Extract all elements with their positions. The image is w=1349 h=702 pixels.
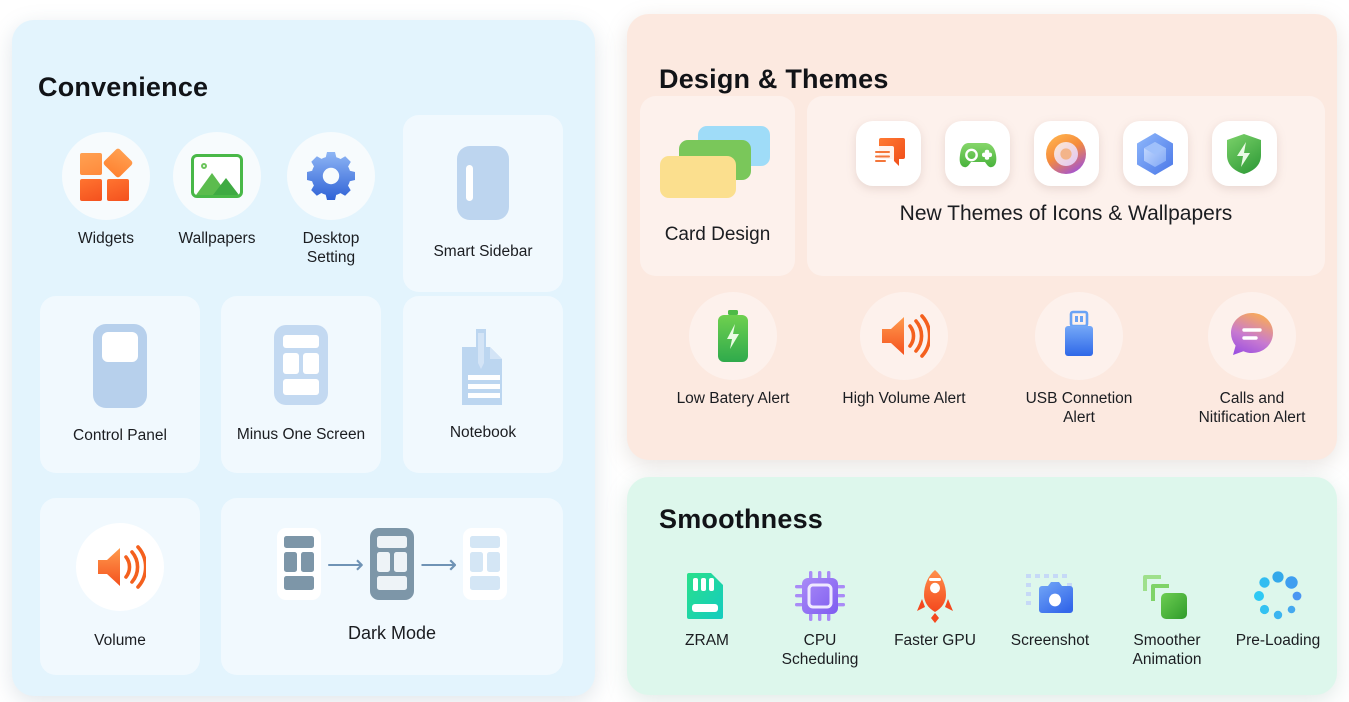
tile-smart-sidebar[interactable]: Smart Sidebar — [403, 115, 563, 292]
volume-alert-icon-wrap — [860, 292, 948, 380]
tile-dark-mode-label: Dark Mode — [348, 622, 436, 645]
loading-spinner-icon — [1252, 570, 1304, 622]
feature-pre-loading-label: Pre-Loading — [1236, 631, 1320, 650]
panel-convenience: Convenience Widgets Wallpapers — [12, 20, 595, 696]
feature-faster-gpu[interactable]: Faster GPU — [880, 570, 990, 650]
messages-icon[interactable] — [856, 121, 921, 186]
subcard-new-themes-label: New Themes of Icons & Wallpapers — [807, 202, 1325, 226]
panel-design-title: Design & Themes — [659, 64, 889, 95]
sd-card-icon — [681, 570, 733, 622]
arrow-right-icon: ⟶ — [327, 551, 364, 577]
tile-volume[interactable]: Volume — [40, 498, 200, 675]
smart-sidebar-icon — [457, 146, 509, 220]
feature-usb-connection-alert-label: USB Connetion Alert — [1026, 389, 1133, 428]
feature-high-volume-alert[interactable]: High Volume Alert — [830, 292, 978, 408]
tile-minus-one-screen[interactable]: Minus One Screen — [221, 296, 381, 473]
feature-usb-connection-alert[interactable]: USB Connetion Alert — [1005, 292, 1153, 428]
feature-smoother-animation-label: Smoother Animation — [1133, 631, 1202, 670]
camera-icon — [1024, 570, 1076, 622]
theme-icon-row — [807, 96, 1325, 186]
feature-desktop-setting-label: Desktop Setting — [303, 229, 360, 268]
tile-volume-label: Volume — [94, 631, 146, 650]
phone-pale-icon — [463, 528, 507, 600]
feature-zram[interactable]: ZRAM — [652, 570, 762, 650]
panel-design-themes: Design & Themes Card Design — [627, 14, 1337, 460]
tile-minus-one-screen-label: Minus One Screen — [237, 425, 365, 444]
feature-desktop-setting[interactable]: Desktop Setting — [282, 132, 380, 268]
feature-overview-poster: Convenience Widgets Wallpapers — [0, 0, 1349, 702]
gear-icon — [305, 150, 357, 202]
arrow-right-icon: ⟶ — [420, 551, 457, 577]
feature-zram-label: ZRAM — [685, 631, 729, 650]
feature-wallpapers-label: Wallpapers — [179, 229, 256, 248]
game-controller-icon[interactable] — [945, 121, 1010, 186]
panel-smoothness: Smoothness ZRAM — [627, 477, 1337, 695]
rocket-icon — [909, 570, 961, 622]
feature-faster-gpu-label: Faster GPU — [894, 631, 976, 650]
feature-pre-loading[interactable]: Pre-Loading — [1223, 570, 1333, 650]
cube-icon[interactable] — [1123, 121, 1188, 186]
layers-icon — [1141, 570, 1193, 622]
battery-bolt-icon — [715, 310, 751, 362]
volume-speaker-icon — [878, 313, 930, 359]
minus-one-screen-icon — [274, 325, 328, 405]
feature-low-battery-alert-label: Low Batery Alert — [677, 389, 790, 408]
gallery-ring-icon[interactable] — [1034, 121, 1099, 186]
panel-smoothness-title: Smoothness — [659, 504, 823, 535]
feature-smoother-animation[interactable]: Smoother Animation — [1107, 570, 1227, 670]
feature-low-battery-alert[interactable]: Low Batery Alert — [659, 292, 807, 408]
card-stack-icon — [660, 126, 776, 202]
wallpapers-icon-wrap — [173, 132, 261, 220]
feature-calls-notification-alert-label: Calls and Nitification Alert — [1199, 389, 1306, 428]
tile-smart-sidebar-label: Smart Sidebar — [433, 242, 532, 261]
feature-high-volume-alert-label: High Volume Alert — [842, 389, 965, 408]
gear-icon-wrap — [287, 132, 375, 220]
tile-control-panel-label: Control Panel — [73, 426, 167, 445]
tile-notebook[interactable]: Notebook — [403, 296, 563, 473]
feature-cpu-scheduling-label: CPU Scheduling — [782, 631, 859, 670]
feature-cpu-scheduling[interactable]: CPU Scheduling — [765, 570, 875, 670]
feature-widgets[interactable]: Widgets — [60, 132, 152, 248]
subcard-card-design[interactable]: Card Design — [640, 96, 795, 276]
shield-bolt-icon[interactable] — [1212, 121, 1277, 186]
phone-dark-icon — [370, 528, 414, 600]
phone-light-icon — [277, 528, 321, 600]
chat-bubble-icon — [1227, 311, 1277, 361]
tile-control-panel[interactable]: Control Panel — [40, 296, 200, 473]
feature-widgets-label: Widgets — [78, 229, 134, 248]
subcard-new-themes[interactable]: New Themes of Icons & Wallpapers — [807, 96, 1325, 276]
usb-icon-wrap — [1035, 292, 1123, 380]
feature-screenshot[interactable]: Screenshot — [995, 570, 1105, 650]
volume-icon-wrap — [76, 523, 164, 611]
volume-speaker-icon — [94, 544, 146, 590]
calls-icon-wrap — [1208, 292, 1296, 380]
feature-wallpapers[interactable]: Wallpapers — [171, 132, 263, 248]
feature-screenshot-label: Screenshot — [1011, 631, 1089, 650]
subcard-card-design-label: Card Design — [665, 224, 771, 246]
dark-mode-icon: ⟶ ⟶ — [277, 528, 508, 600]
battery-icon-wrap — [689, 292, 777, 380]
usb-icon — [1059, 310, 1099, 362]
wallpapers-icon — [191, 154, 243, 198]
feature-calls-notification-alert[interactable]: Calls and Nitification Alert — [1178, 292, 1326, 428]
notebook-icon — [454, 327, 512, 407]
cpu-chip-icon — [794, 570, 846, 622]
widgets-icon-wrap — [62, 132, 150, 220]
widgets-icon — [80, 150, 132, 202]
tile-dark-mode[interactable]: ⟶ ⟶ Dark Mode — [221, 498, 563, 675]
panel-convenience-title: Convenience — [38, 72, 208, 103]
tile-notebook-label: Notebook — [450, 423, 516, 442]
control-panel-icon — [93, 324, 147, 408]
